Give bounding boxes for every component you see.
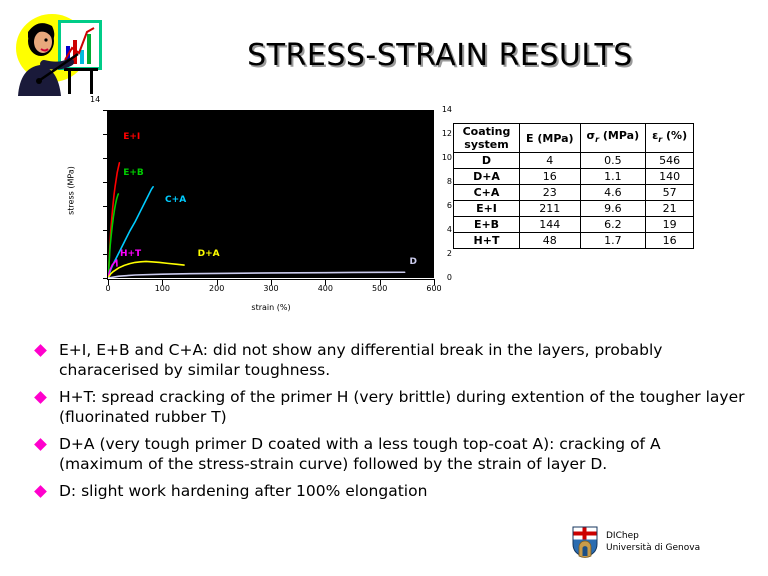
- bullet-diamond-icon: [34, 485, 47, 498]
- table-cell-eps: 21: [646, 201, 694, 217]
- table-cell-sigma: 6.2: [580, 217, 646, 233]
- table-body: D40.5546D+A161.1140C+A234.657E+I2119.621…: [454, 153, 694, 249]
- table-row: E+B1446.219: [454, 217, 694, 233]
- chart-y-tick-0: 0: [406, 274, 452, 282]
- chart-x-tick-600: 600: [414, 284, 454, 293]
- table-cell-eps: 19: [646, 217, 694, 233]
- table-cell-sigma: 9.6: [580, 201, 646, 217]
- epsilon-unit: (%): [662, 129, 687, 142]
- chart-y-tick-2: 2: [406, 250, 452, 258]
- table-row: H+T481.716: [454, 233, 694, 249]
- table-cell-E: 144: [520, 217, 581, 233]
- sigma-symbol: σ: [587, 129, 596, 142]
- chart-x-tick-0: 0: [88, 284, 128, 293]
- bullet-item-4: D: slight work hardening after 100% elon…: [28, 481, 748, 501]
- bullet-text: D: slight work hardening after 100% elon…: [59, 481, 748, 501]
- chart-y-axis-title: stress (MPa): [67, 136, 76, 246]
- slide-canvas: STRESS-STRAIN RESULTS 14 E+IE+BC+AH+TD+A…: [0, 0, 768, 576]
- bullet-diamond-icon: [34, 438, 47, 451]
- table-cell-E: 211: [520, 201, 581, 217]
- table-row: E+I2119.621: [454, 201, 694, 217]
- chart-x-tick-mark: [108, 280, 109, 285]
- chart-label-e-b: E+B: [123, 168, 144, 178]
- bullet-diamond-icon: [34, 344, 47, 357]
- column-header-stress-at-break: σr (MPa): [580, 124, 646, 153]
- chart-x-tick-mark: [434, 280, 435, 285]
- bullet-item-3: D+A (very tough primer D coated with a l…: [28, 434, 748, 474]
- chart-x-tick-mark: [217, 280, 218, 285]
- table-cell-eps: 140: [646, 169, 694, 185]
- chart-y-tick-4: 4: [406, 226, 452, 234]
- chart-y-tick-mark: [103, 182, 108, 183]
- chart-series-curves: [108, 110, 434, 278]
- table-cell-system: D: [454, 153, 520, 169]
- chart-y-tick-mark: [103, 134, 108, 135]
- results-table: Coating system E (MPa) σr (MPa) εr (%) D…: [453, 123, 694, 249]
- table-cell-sigma: 1.1: [580, 169, 646, 185]
- bullet-text: E+I, E+B and C+A: did not show any diffe…: [59, 340, 748, 380]
- table-cell-eps: 16: [646, 233, 694, 249]
- chart-x-tick-100: 100: [142, 284, 182, 293]
- chart-y-tick-12: 12: [406, 130, 452, 138]
- page-title: STRESS-STRAIN RESULTS: [180, 38, 700, 73]
- chart-label-e-i: E+I: [123, 132, 140, 142]
- table-row: D40.5546: [454, 153, 694, 169]
- chart-label-d-a: D+A: [198, 249, 220, 259]
- chart-y-tick-mark: [103, 206, 108, 207]
- chart-y-tick-10: 10: [406, 154, 452, 162]
- table-cell-system: C+A: [454, 185, 520, 201]
- chart-y-tick-mark: [103, 110, 108, 111]
- presenter-clipart-image: [8, 8, 108, 100]
- chart-x-tick-mark: [325, 280, 326, 285]
- footer-university: Università di Genova: [606, 542, 700, 554]
- stress-strain-chart: E+IE+BC+AH+TD+AD 02468101214 01002003004…: [52, 100, 452, 330]
- table-cell-system: E+I: [454, 201, 520, 217]
- header-coating-line1: Coating: [463, 125, 511, 138]
- footer-logo: DIChep Università di Genova: [572, 526, 700, 558]
- table-cell-E: 23: [520, 185, 581, 201]
- column-header-coating-system: Coating system: [454, 124, 520, 153]
- chart-x-axis-title: strain (%): [108, 303, 434, 312]
- table-row: C+A234.657: [454, 185, 694, 201]
- bullet-text: H+T: spread cracking of the primer H (ve…: [59, 387, 748, 427]
- bullet-item-2: H+T: spread cracking of the primer H (ve…: [28, 387, 748, 427]
- header-coating-line2: system: [464, 138, 508, 151]
- chart-y-tick-6: 6: [406, 202, 452, 210]
- table-cell-sigma: 0.5: [580, 153, 646, 169]
- chart-x-tick-300: 300: [251, 284, 291, 293]
- chart-x-tick-mark: [271, 280, 272, 285]
- table-cell-eps: 546: [646, 153, 694, 169]
- chart-label-c-a: C+A: [165, 195, 186, 205]
- table-cell-system: H+T: [454, 233, 520, 249]
- bullet-item-1: E+I, E+B and C+A: did not show any diffe…: [28, 340, 748, 380]
- table-cell-sigma: 4.6: [580, 185, 646, 201]
- chart-curve-c-a: [108, 187, 153, 278]
- chart-label-d: D: [410, 257, 417, 267]
- chart-label-h-t: H+T: [120, 249, 141, 259]
- bullet-list: E+I, E+B and C+A: did not show any diffe…: [28, 340, 748, 508]
- chart-y-tick-14: 14: [406, 106, 452, 114]
- chart-x-tick-mark: [380, 280, 381, 285]
- table-cell-E: 48: [520, 233, 581, 249]
- table-cell-eps: 57: [646, 185, 694, 201]
- column-header-strain-at-break: εr (%): [646, 124, 694, 153]
- table-cell-system: E+B: [454, 217, 520, 233]
- table-cell-sigma: 1.7: [580, 233, 646, 249]
- sigma-unit: (MPa): [599, 129, 639, 142]
- chart-x-tick-mark: [162, 280, 163, 285]
- chart-y-tick-mark: [103, 278, 108, 279]
- chart-x-tick-200: 200: [197, 284, 237, 293]
- chart-x-tick-400: 400: [305, 284, 345, 293]
- chart-y-tick-8: 8: [406, 178, 452, 186]
- chart-y-tick-mark: [103, 230, 108, 231]
- chart-y-tick-mark: [103, 158, 108, 159]
- university-crest-icon: [572, 526, 598, 558]
- table-header-row: Coating system E (MPa) σr (MPa) εr (%): [454, 124, 694, 153]
- footer-text-block: DIChep Università di Genova: [606, 530, 700, 554]
- bullet-text: D+A (very tough primer D coated with a l…: [59, 434, 748, 474]
- chart-y-tick-mark: [103, 254, 108, 255]
- table-cell-system: D+A: [454, 169, 520, 185]
- footer-department: DIChep: [606, 530, 700, 542]
- chart-plot-area: E+IE+BC+AH+TD+AD: [108, 110, 434, 278]
- table-cell-E: 16: [520, 169, 581, 185]
- table-row: D+A161.1140: [454, 169, 694, 185]
- chart-curve-d: [108, 272, 405, 278]
- column-header-modulus: E (MPa): [520, 124, 581, 153]
- table-cell-E: 4: [520, 153, 581, 169]
- chart-x-tick-500: 500: [360, 284, 400, 293]
- bullet-diamond-icon: [34, 391, 47, 404]
